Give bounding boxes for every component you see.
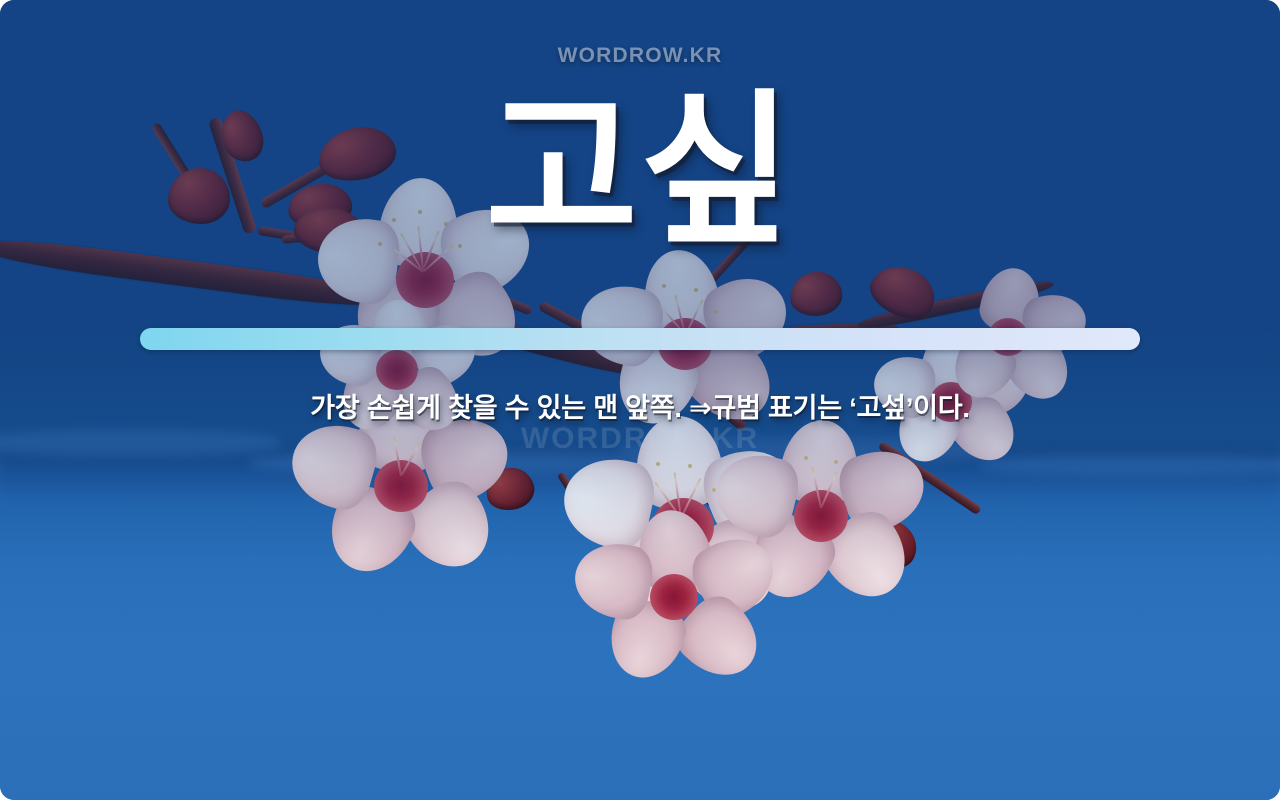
anther [694, 288, 698, 292]
progress-bar-fill [140, 328, 1140, 350]
anther [656, 462, 660, 466]
anther [662, 284, 666, 288]
progress-bar[interactable] [140, 328, 1140, 350]
word-headline: 고싶 [0, 84, 1280, 260]
site-watermark-center: WORDROW.KR [0, 422, 1280, 456]
blossom-center [650, 574, 698, 620]
site-watermark-top: WORDROW.KR [0, 44, 1280, 68]
anther [804, 456, 808, 460]
blossom [586, 510, 776, 680]
blossom-center [376, 350, 418, 390]
anther [714, 310, 718, 314]
blossom-center [794, 490, 848, 542]
word-definition: 가장 손쉽게 찾을 수 있는 맨 앞쪽. ⇒규범 표기는 ‘고섶’이다. [60, 386, 1220, 425]
word-card: WORDROW.KR 고싶 WORDROW.KR 가장 손쉽게 찾을 수 있는 … [0, 0, 1280, 800]
blossom-center [374, 460, 428, 512]
anther [834, 460, 838, 464]
anther [688, 464, 692, 468]
